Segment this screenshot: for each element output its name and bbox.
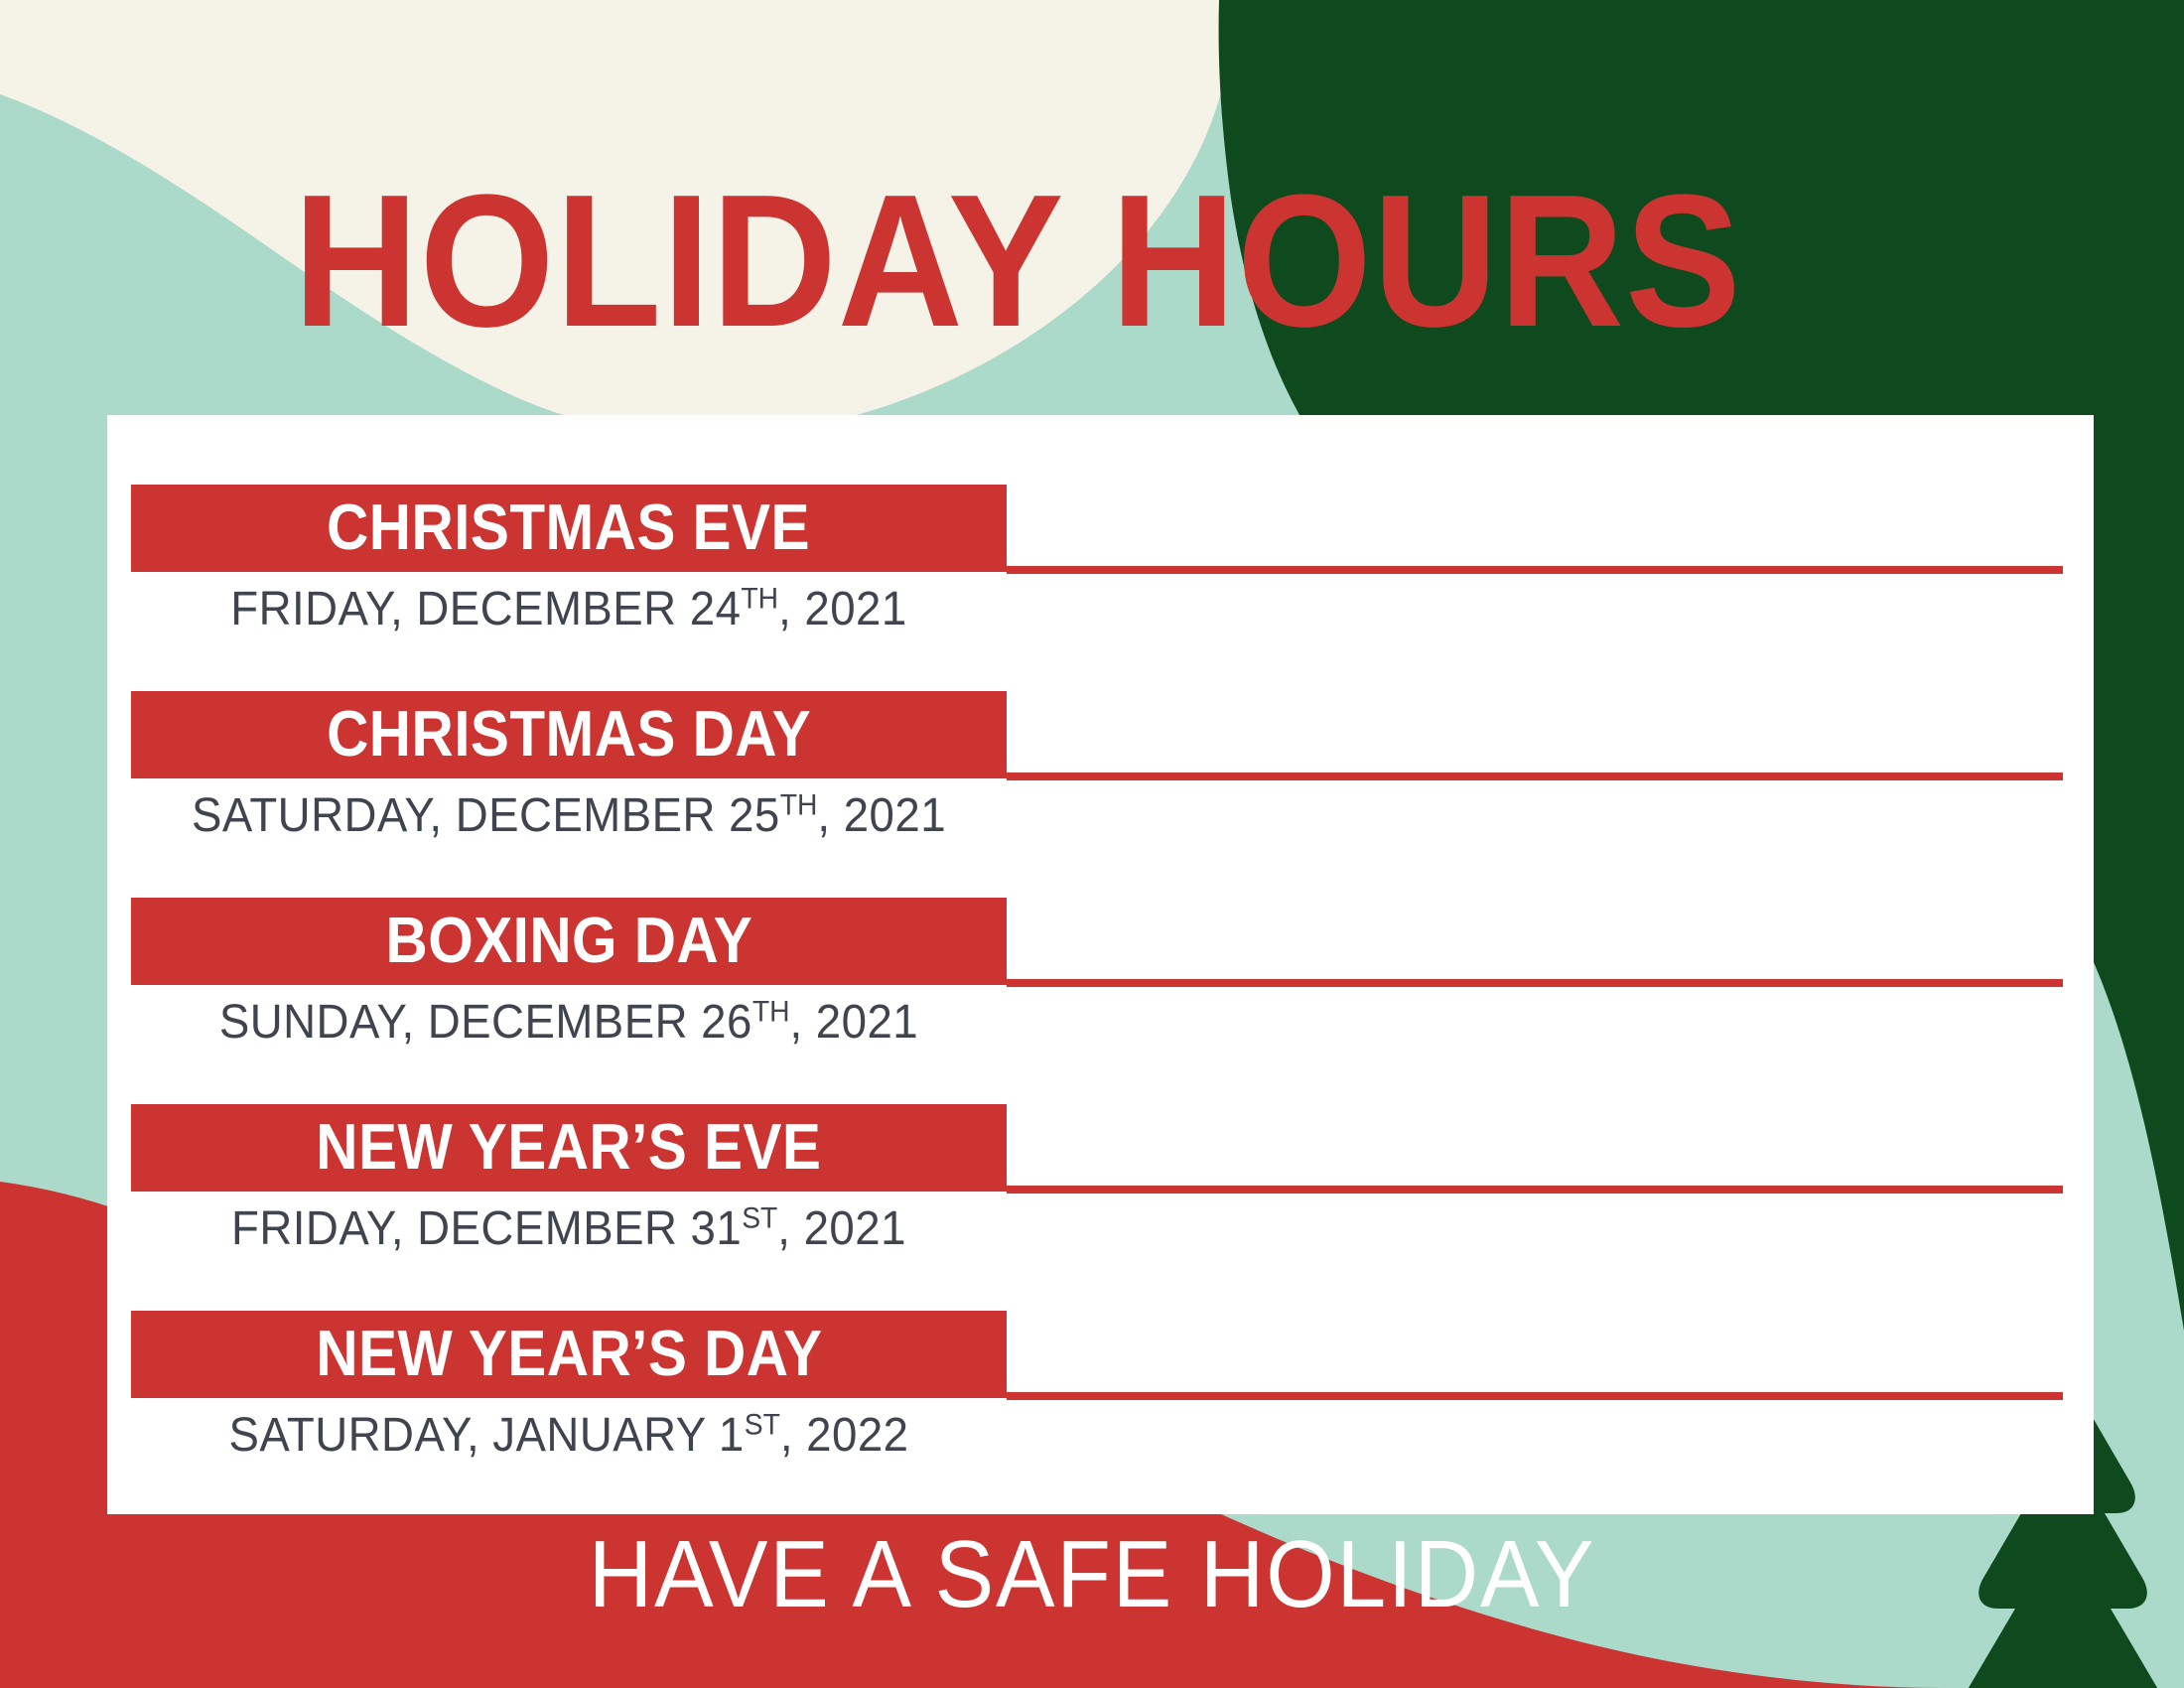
schedule-row: CHRISTMAS DAY SATURDAY, DECEMBER 25TH, 2… bbox=[107, 691, 2094, 893]
schedule-row: NEW YEAR’S DAY SATURDAY, JANUARY 1ST, 20… bbox=[107, 1311, 2094, 1512]
holiday-name-bar: CHRISTMAS DAY bbox=[131, 691, 1007, 778]
hours-rule-line bbox=[1007, 979, 2063, 987]
holiday-date: FRIDAY, DECEMBER 31ST, 2021 bbox=[153, 1199, 985, 1259]
holiday-date-ordinal: TH bbox=[752, 996, 790, 1029]
holiday-name-bar: NEW YEAR’S EVE bbox=[131, 1104, 1007, 1192]
schedule-row: CHRISTMAS EVE FRIDAY, DECEMBER 24TH, 202… bbox=[107, 485, 2094, 686]
holiday-date: SATURDAY, JANUARY 1ST, 2022 bbox=[153, 1406, 985, 1466]
holiday-date: SUNDAY, DECEMBER 26TH, 2021 bbox=[153, 993, 985, 1053]
holiday-date-ordinal: ST bbox=[745, 1409, 780, 1442]
holiday-name-bar: NEW YEAR’S DAY bbox=[131, 1311, 1007, 1398]
hours-rule-line bbox=[1007, 1392, 2063, 1400]
holiday-date-ordinal: TH bbox=[741, 583, 778, 616]
holiday-date: SATURDAY, DECEMBER 25TH, 2021 bbox=[153, 786, 985, 846]
schedule-card: CHRISTMAS EVE FRIDAY, DECEMBER 24TH, 202… bbox=[107, 415, 2094, 1514]
holiday-name: NEW YEAR’S EVE bbox=[316, 1114, 821, 1183]
holiday-date-year: , 2021 bbox=[778, 583, 907, 635]
holiday-name: BOXING DAY bbox=[385, 908, 752, 976]
holiday-date-weekday: SATURDAY, JANUARY 1 bbox=[228, 1409, 744, 1462]
holiday-date-year: , 2022 bbox=[780, 1409, 909, 1462]
hours-rule-line bbox=[1007, 773, 2063, 780]
holiday-hours-poster: HOLIDAY HOURS CHRISTMAS EVE FRIDAY, DECE… bbox=[0, 0, 2184, 1688]
holiday-date-weekday: FRIDAY, DECEMBER 31 bbox=[231, 1202, 742, 1255]
footer-message: HAVE A SAFE HOLIDAY bbox=[76, 1527, 2108, 1622]
holiday-date-ordinal: TH bbox=[780, 789, 818, 822]
holiday-date-weekday: SATURDAY, DECEMBER 25 bbox=[192, 789, 780, 842]
holiday-date-ordinal: ST bbox=[742, 1202, 777, 1235]
schedule-row: NEW YEAR’S EVE FRIDAY, DECEMBER 31ST, 20… bbox=[107, 1104, 2094, 1306]
schedule-row: BOXING DAY SUNDAY, DECEMBER 26TH, 2021 bbox=[107, 898, 2094, 1099]
hours-rule-line bbox=[1007, 1186, 2063, 1194]
page-title: HOLIDAY HOURS bbox=[81, 167, 1954, 355]
holiday-date-weekday: SUNDAY, DECEMBER 26 bbox=[219, 996, 752, 1049]
hours-rule-line bbox=[1007, 566, 2063, 574]
holiday-date: FRIDAY, DECEMBER 24TH, 2021 bbox=[153, 580, 985, 639]
holiday-name-bar: CHRISTMAS EVE bbox=[131, 485, 1007, 572]
holiday-date-year: , 2021 bbox=[777, 1202, 906, 1255]
holiday-date-weekday: FRIDAY, DECEMBER 24 bbox=[230, 583, 741, 635]
holiday-date-year: , 2021 bbox=[790, 996, 919, 1049]
holiday-name: CHRISTMAS DAY bbox=[327, 701, 811, 770]
holiday-name: NEW YEAR’S DAY bbox=[316, 1321, 822, 1389]
holiday-date-year: , 2021 bbox=[817, 789, 946, 842]
holiday-name: CHRISTMAS EVE bbox=[328, 494, 811, 563]
schedule-list: CHRISTMAS EVE FRIDAY, DECEMBER 24TH, 202… bbox=[107, 415, 2094, 1514]
holiday-name-bar: BOXING DAY bbox=[131, 898, 1007, 985]
